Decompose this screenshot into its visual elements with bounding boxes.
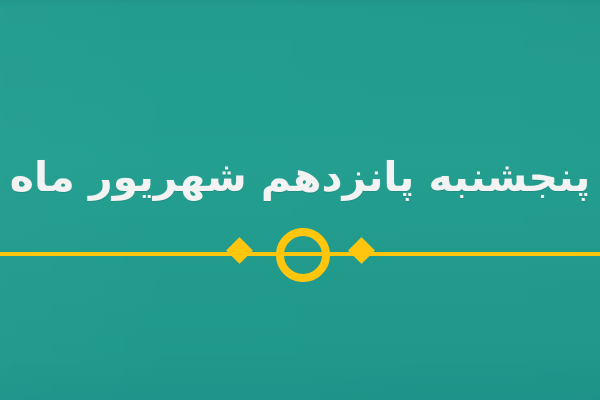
- headline-container: پنجشنبه پانزدهم شهریور ماه: [0, 143, 600, 211]
- banner-headline: پنجشنبه پانزدهم شهریور ماه: [10, 153, 590, 201]
- diamond-left-icon: [348, 237, 375, 264]
- circle-ring-icon: [276, 228, 330, 282]
- divider-center-group: [220, 228, 386, 282]
- diamond-right-icon: [226, 237, 253, 264]
- date-banner: پنجشنبه پانزدهم شهریور ماه: [0, 0, 600, 400]
- ornamental-divider: [0, 228, 600, 282]
